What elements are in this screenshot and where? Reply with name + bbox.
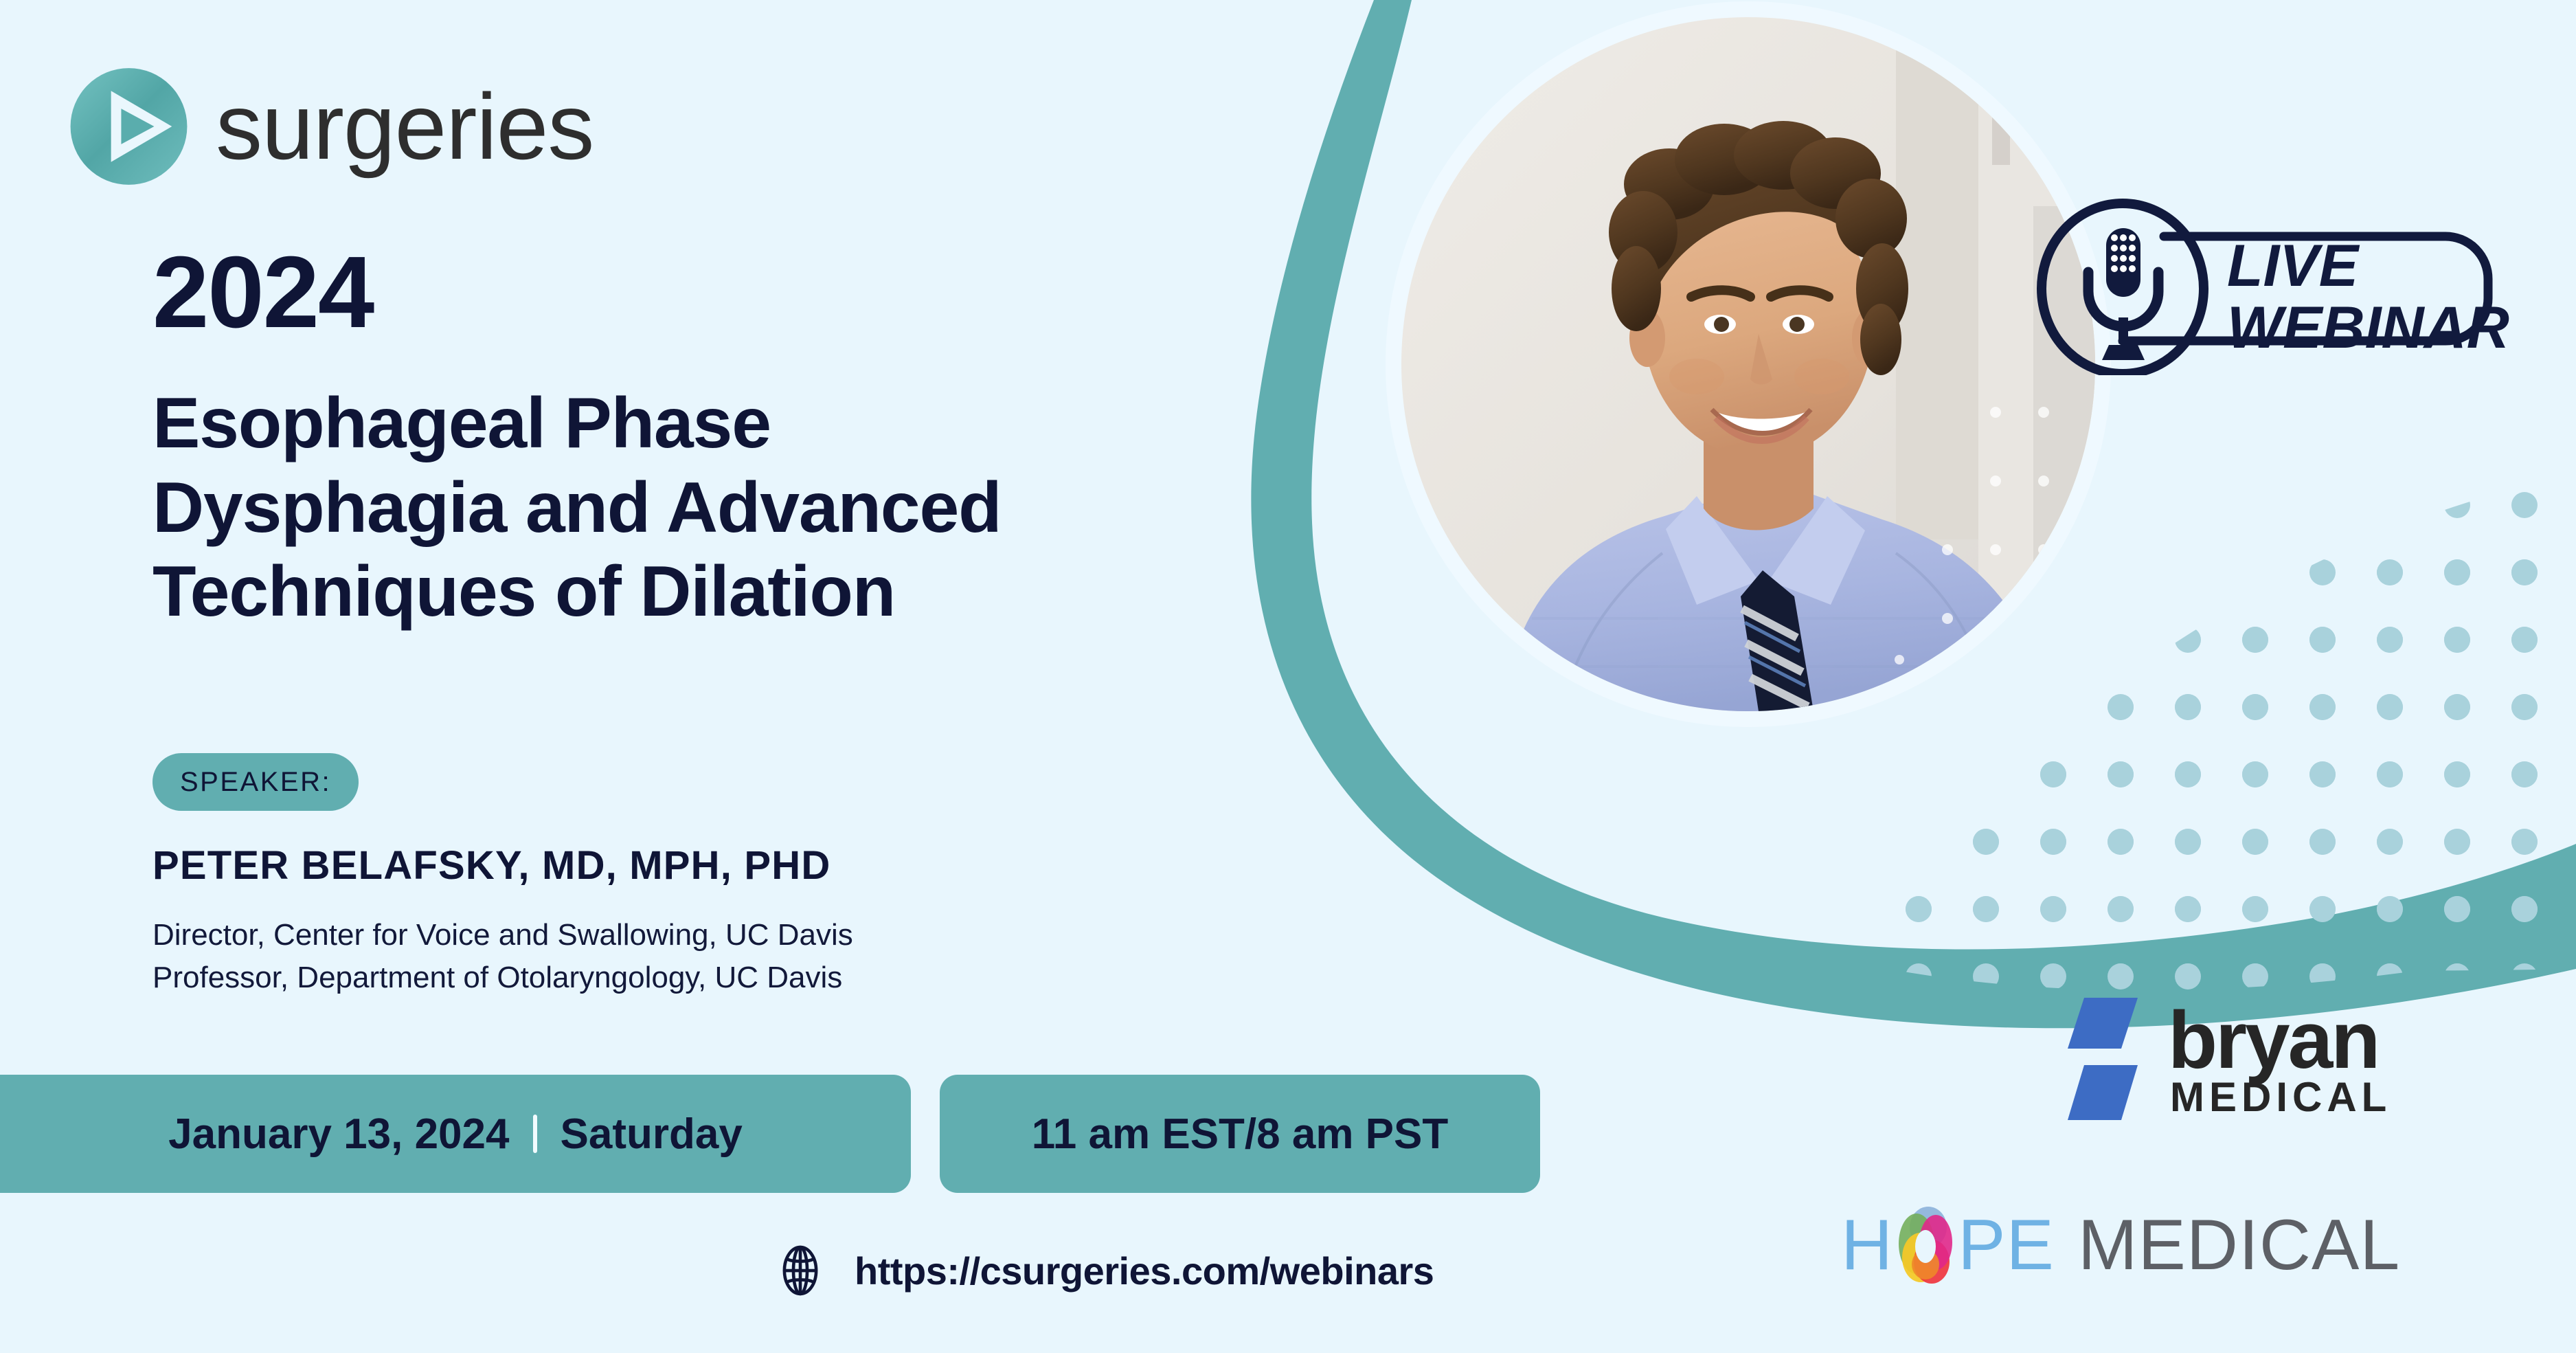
- date-pill: January 13, 2024 Saturday: [0, 1075, 911, 1193]
- speaker-photo: [1401, 17, 2095, 711]
- teal-swoosh-shape: [1251, 0, 2576, 1028]
- hope-prefix: H: [1841, 1209, 1893, 1281]
- speaker-roles: Director, Center for Voice and Swallowin…: [152, 914, 853, 1000]
- pill-divider: [533, 1115, 537, 1153]
- event-date: January 13, 2024: [168, 1110, 509, 1159]
- brand-wordmark: surgeries: [216, 80, 594, 173]
- speaker-role-2: Professor, Department of Otolaryngology,…: [152, 957, 853, 999]
- dot-pattern: [1855, 508, 2576, 989]
- speaker-name: PETER BELAFSKY, MD, MPH, PHD: [152, 842, 831, 888]
- bryan-secondary: MEDICAL: [2170, 1077, 2391, 1118]
- sponsor-hope-medical: H PE MEDICAL: [1841, 1207, 2400, 1284]
- hope-suffix: PE: [1958, 1209, 2055, 1281]
- page-title-year: 2024: [152, 242, 373, 344]
- event-time: 11 am EST/8 am PST: [1032, 1110, 1449, 1159]
- bryan-wordmark: bryan MEDICAL: [2168, 1000, 2391, 1118]
- title-line-3: Techniques of Dilation: [152, 550, 1204, 634]
- title-line-2: Dysphagia and Advanced: [152, 466, 1204, 550]
- webinar-poster: surgeries 2024 Esophageal Phase Dysphagi…: [0, 0, 2576, 1353]
- live-badge-line-2: WEBINAR: [2227, 295, 2509, 361]
- page-title: Esophageal Phase Dysphagia and Advanced …: [152, 381, 1204, 634]
- time-pill: 11 am EST/8 am PST: [940, 1075, 1540, 1193]
- live-badge-line-1: LIVE: [2227, 233, 2360, 299]
- brand-logo[interactable]: surgeries: [65, 60, 594, 192]
- registration-link[interactable]: https://csurgeries.com/webinars: [775, 1245, 1434, 1296]
- globe-icon: [775, 1245, 826, 1296]
- live-webinar-badge: LIVE WEBINAR: [2006, 176, 2528, 375]
- bryan-primary: bryan: [2168, 1000, 2391, 1081]
- dot-pattern-band: [1820, 454, 2576, 1017]
- registration-url[interactable]: https://csurgeries.com/webinars: [855, 1249, 1434, 1293]
- play-circle-logo-icon: [65, 60, 192, 192]
- speaker-badge: SPEAKER:: [152, 753, 359, 811]
- hope-ring-icon: [1889, 1207, 1962, 1284]
- bryan-chevron-mark-icon: [2061, 995, 2145, 1123]
- speaker-role-1: Director, Center for Voice and Swallowin…: [152, 914, 853, 957]
- event-day: Saturday: [561, 1110, 743, 1159]
- title-line-1: Esophageal Phase: [152, 381, 1204, 466]
- hope-secondary: MEDICAL: [2078, 1209, 2400, 1281]
- sponsor-bryan-medical: bryan MEDICAL: [2061, 995, 2391, 1123]
- speaker-badge-label: SPEAKER:: [180, 767, 331, 798]
